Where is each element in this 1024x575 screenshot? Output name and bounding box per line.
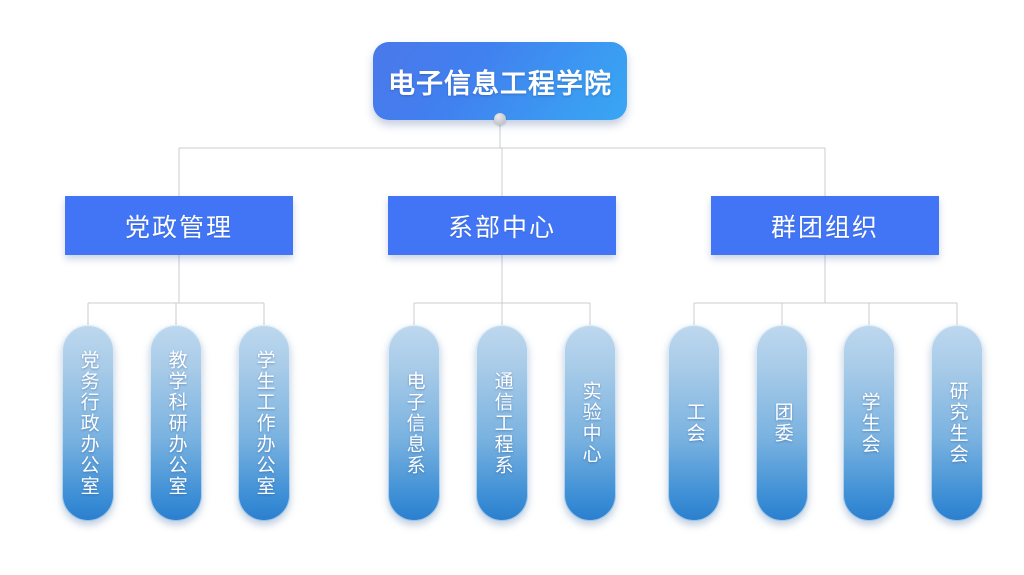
leaf-node-experiment-center[interactable]: 实验中心 bbox=[564, 325, 616, 521]
leaf-node-label: 学生会 bbox=[858, 392, 879, 455]
leaf-node-label: 研究生会 bbox=[946, 381, 967, 465]
leaf-node-student-affairs-office[interactable]: 学生工作办公室 bbox=[238, 325, 290, 521]
leaf-node-teaching-research-office[interactable]: 教学科研办公室 bbox=[150, 325, 202, 521]
root-connector-knob-icon bbox=[494, 113, 506, 125]
leaf-node-label: 教学科研办公室 bbox=[165, 350, 186, 497]
leaf-node-graduate-student-union[interactable]: 研究生会 bbox=[931, 325, 983, 521]
leaf-node-youth-league-committee[interactable]: 团委 bbox=[756, 325, 808, 521]
branch-node-mass-organizations[interactable]: 群团组织 bbox=[711, 196, 939, 255]
leaf-node-student-union[interactable]: 学生会 bbox=[843, 325, 895, 521]
leaf-node-communication-engineering-dept[interactable]: 通信工程系 bbox=[476, 325, 528, 521]
branch-node-label: 系部中心 bbox=[448, 208, 556, 244]
leaf-node-label: 电子信息系 bbox=[403, 371, 424, 476]
leaf-node-label: 实验中心 bbox=[579, 381, 600, 465]
org-chart-canvas: 电子信息工程学院 党政管理 系部中心 群团组织 党务行政办公室 教学科研办公室 … bbox=[0, 0, 1024, 575]
branch-node-party-administration[interactable]: 党政管理 bbox=[65, 196, 293, 255]
root-node[interactable]: 电子信息工程学院 bbox=[373, 42, 627, 120]
leaf-node-labor-union[interactable]: 工会 bbox=[668, 325, 720, 521]
leaf-node-label: 党务行政办公室 bbox=[77, 350, 98, 497]
branch-node-label: 党政管理 bbox=[125, 208, 233, 244]
leaf-node-label: 学生工作办公室 bbox=[253, 350, 274, 497]
branch-node-departments-centers[interactable]: 系部中心 bbox=[388, 196, 616, 255]
leaf-node-party-admin-office[interactable]: 党务行政办公室 bbox=[62, 325, 114, 521]
leaf-node-electronic-information-dept[interactable]: 电子信息系 bbox=[388, 325, 440, 521]
branch-node-label: 群团组织 bbox=[771, 208, 879, 244]
root-node-label: 电子信息工程学院 bbox=[388, 62, 612, 101]
leaf-node-label: 工会 bbox=[683, 402, 704, 444]
leaf-node-label: 团委 bbox=[771, 402, 792, 444]
leaf-node-label: 通信工程系 bbox=[491, 371, 512, 476]
